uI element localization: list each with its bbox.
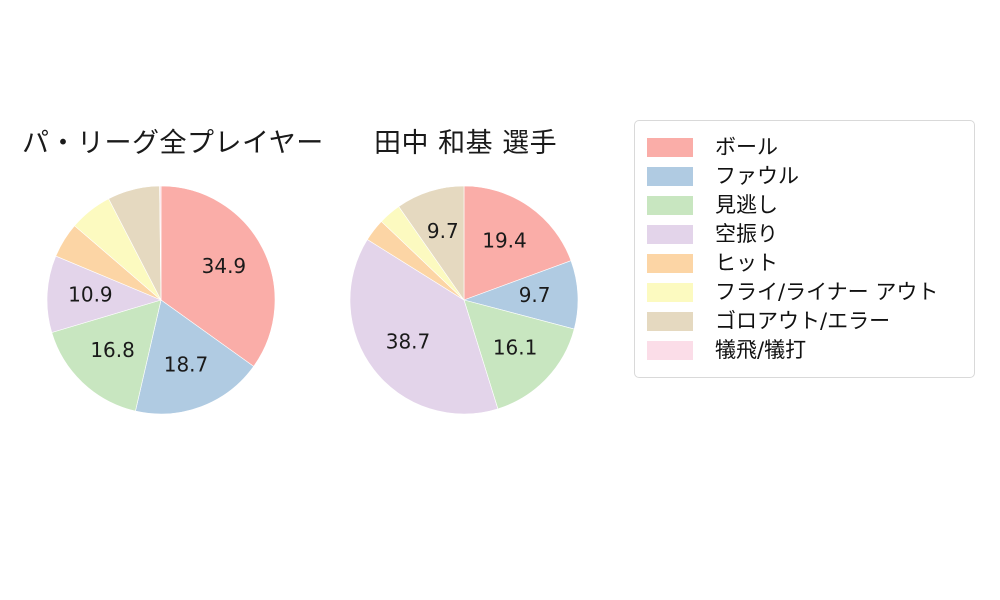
legend-item-label: 犠飛/犠打: [715, 340, 806, 361]
pie-slice-value-label: 10.9: [68, 283, 113, 307]
pie-slice-value-label: 19.4: [482, 229, 527, 253]
legend-item[interactable]: フライ/ライナー アウト: [647, 278, 960, 307]
legend: ボールファウル見逃し空振りヒットフライ/ライナー アウトゴロアウト/エラー犠飛/…: [634, 120, 975, 378]
legend-item-label: フライ/ライナー アウト: [715, 282, 938, 303]
legend-item-label: 見逃し: [715, 195, 778, 216]
legend-item-label: ヒット: [715, 253, 778, 274]
legend-swatch-icon: [647, 254, 693, 273]
legend-swatch-icon: [647, 138, 693, 157]
legend-item[interactable]: ヒット: [647, 249, 960, 278]
legend-item-label: ファウル: [715, 166, 799, 187]
pie-title-right: 田中 和基 選手: [374, 121, 557, 160]
pie-slice-value-label: 34.9: [202, 254, 247, 278]
legend-swatch-icon: [647, 196, 693, 215]
pie-slice-value-label: 9.7: [519, 283, 551, 307]
legend-swatch-icon: [647, 341, 693, 360]
pie-slice-value-label: 16.8: [90, 338, 135, 362]
pie-chart-right-svg: 19.49.716.138.79.7: [348, 184, 580, 416]
pie-slice-value-label: 16.1: [493, 335, 538, 359]
legend-swatch-icon: [647, 312, 693, 331]
pie-chart-left-svg: 34.918.716.810.9: [45, 184, 277, 416]
legend-item[interactable]: ファウル: [647, 162, 960, 191]
legend-swatch-icon: [647, 225, 693, 244]
pie-title-left: パ・リーグ全プレイヤー: [22, 121, 324, 160]
legend-item-label: 空振り: [715, 224, 778, 245]
legend-item-label: ボール: [715, 137, 778, 158]
legend-item[interactable]: 空振り: [647, 220, 960, 249]
legend-item[interactable]: 見逃し: [647, 191, 960, 220]
pie-slice-value-label: 38.7: [386, 330, 431, 354]
legend-item[interactable]: 犠飛/犠打: [647, 336, 960, 365]
chart-canvas: パ・リーグ全プレイヤー 34.918.716.810.9 田中 和基 選手 19…: [0, 0, 1000, 600]
legend-swatch-icon: [647, 283, 693, 302]
legend-swatch-icon: [647, 167, 693, 186]
pie-chart-right: 19.49.716.138.79.7: [348, 184, 580, 416]
pie-slice-value-label: 9.7: [427, 219, 459, 243]
pie-slice-value-label: 18.7: [164, 353, 209, 377]
pie-chart-left: 34.918.716.810.9: [45, 184, 277, 416]
legend-item-label: ゴロアウト/エラー: [715, 311, 890, 332]
legend-item[interactable]: ボール: [647, 133, 960, 162]
legend-item[interactable]: ゴロアウト/エラー: [647, 307, 960, 336]
